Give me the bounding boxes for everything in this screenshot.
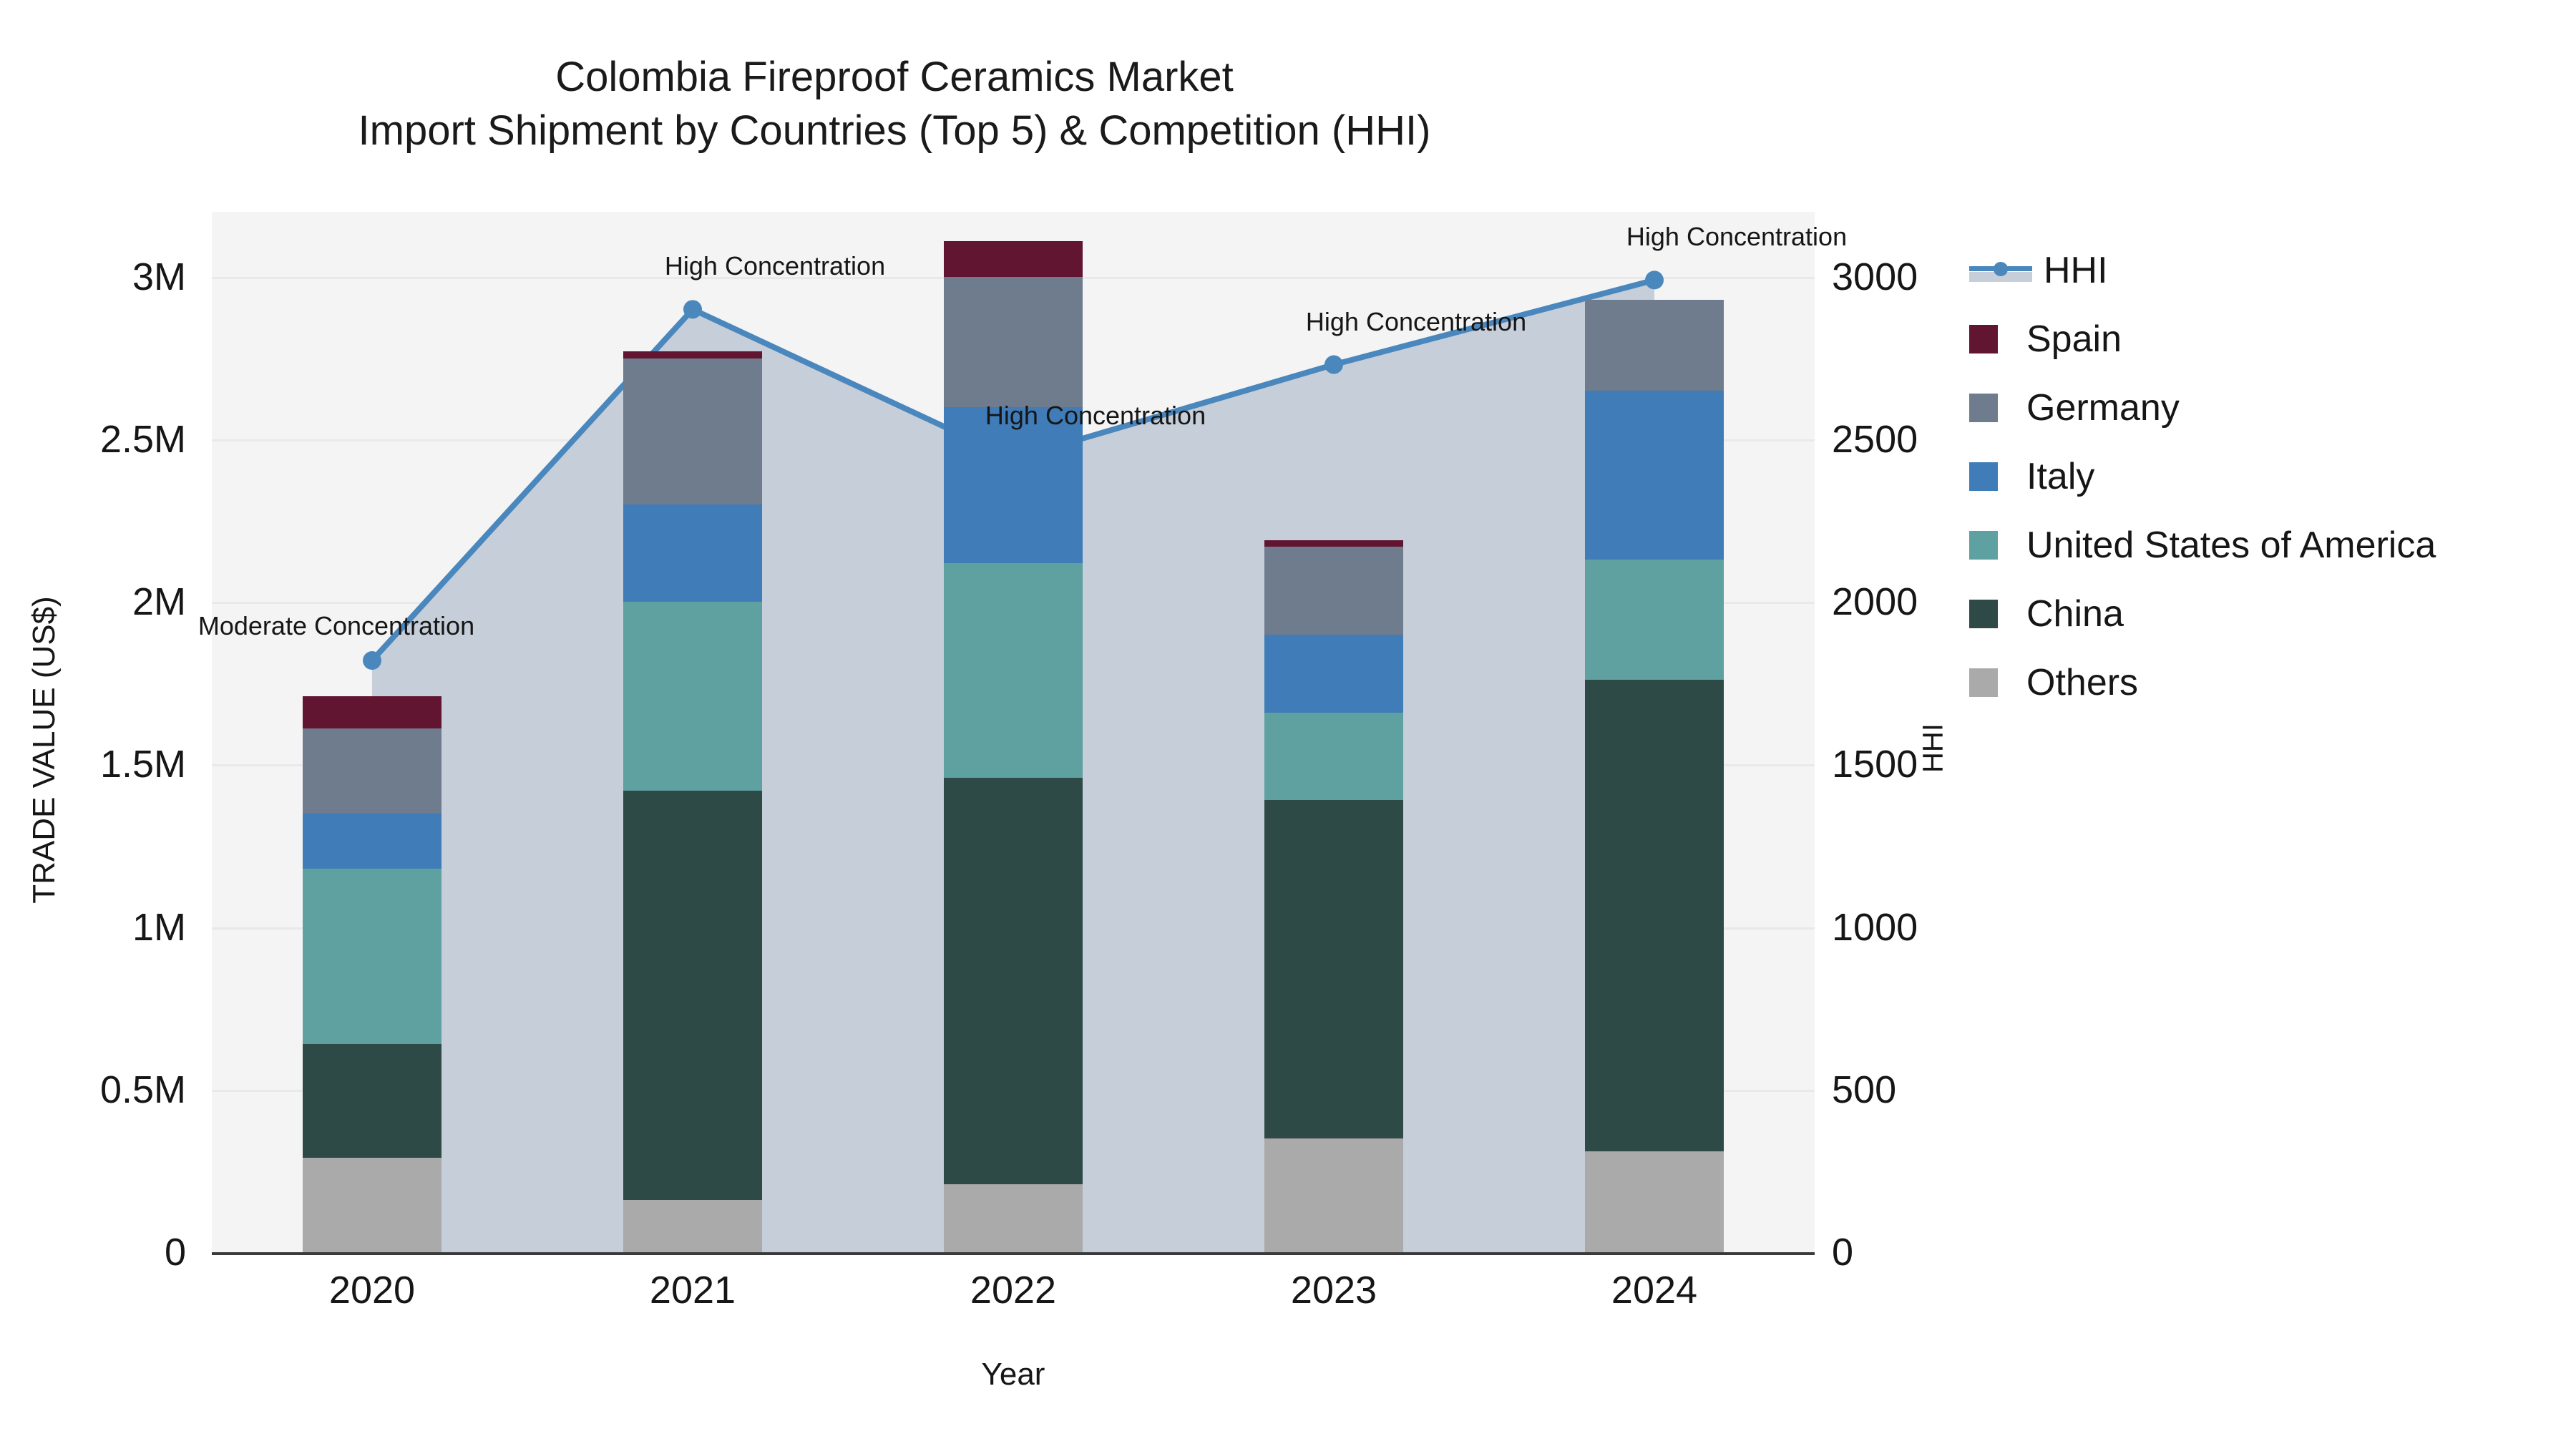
legend-swatch-icon [1969, 600, 1998, 628]
plot-area [212, 212, 1815, 1252]
bar-segment[interactable] [1264, 1138, 1403, 1252]
y-axis-left-tick-label: 0.5M [0, 1068, 186, 1112]
bar-segment[interactable] [1585, 1151, 1724, 1252]
bar-segment[interactable] [303, 728, 441, 813]
legend-item[interactable]: Others [1969, 648, 2556, 717]
title-line-1: Colombia Fireproof Ceramics Market [0, 50, 1789, 104]
bar-segment[interactable] [623, 358, 762, 504]
hhi-point-marker[interactable] [1645, 270, 1664, 289]
bar-segment[interactable] [944, 778, 1083, 1184]
bar-segment[interactable] [944, 563, 1083, 778]
legend-item-label: HHI [2044, 249, 2108, 292]
bar-segment[interactable] [623, 351, 762, 358]
hhi-annotation-label: High Concentration [1248, 309, 1584, 335]
bar-segment[interactable] [303, 1158, 441, 1252]
stacked-bar[interactable] [1585, 300, 1724, 1252]
bar-segment[interactable] [1264, 547, 1403, 635]
hhi-point-marker[interactable] [363, 651, 381, 670]
legend-swatch-icon [1969, 325, 1998, 353]
x-axis-tick-label: 2022 [906, 1268, 1121, 1312]
bar-segment[interactable] [1264, 713, 1403, 801]
bar-segment[interactable] [944, 277, 1083, 407]
y-axis-right-tick-label: 0 [1832, 1230, 2061, 1274]
y-axis-left-title: TRADE VALUE (US$) [26, 478, 62, 1022]
bar-segment[interactable] [303, 1044, 441, 1158]
legend-item-label: China [2026, 592, 2124, 635]
page-title: Colombia Fireproof Ceramics Market Impor… [0, 50, 1789, 158]
x-axis-tick-label: 2021 [585, 1268, 800, 1312]
legend-item[interactable]: Germany [1969, 374, 2556, 442]
bar-segment[interactable] [1264, 635, 1403, 713]
bar-segment[interactable] [944, 241, 1083, 277]
bar-segment[interactable] [944, 407, 1083, 563]
legend-item-label: Germany [2026, 386, 2180, 429]
stacked-bar[interactable] [303, 696, 441, 1252]
x-axis-title: Year [212, 1357, 1815, 1392]
bar-segment[interactable] [623, 602, 762, 791]
stacked-bar[interactable] [623, 351, 762, 1252]
y-axis-right-title: HHI [1918, 655, 1950, 841]
y-axis-left-tick-label: 0 [0, 1230, 186, 1274]
title-line-2: Import Shipment by Countries (Top 5) & C… [0, 104, 1789, 157]
legend-item-label: Others [2026, 661, 2138, 704]
bar-segment[interactable] [1585, 391, 1724, 560]
hhi-point-marker[interactable] [1324, 356, 1343, 374]
x-axis-tick-label: 2020 [265, 1268, 479, 1312]
bar-segment[interactable] [944, 1184, 1083, 1252]
legend-swatch-icon [1969, 668, 1998, 697]
x-axis-tick-label: 2023 [1226, 1268, 1441, 1312]
bar-segment[interactable] [1585, 300, 1724, 391]
bar-segment[interactable] [1585, 560, 1724, 680]
hhi-annotation-label: Moderate Concentration [172, 613, 501, 639]
legend-swatch-icon [1969, 394, 1998, 422]
bar-segment[interactable] [623, 504, 762, 602]
bar-segment[interactable] [1264, 540, 1403, 547]
stacked-bar[interactable] [1264, 540, 1403, 1252]
y-axis-left-tick-label: 2.5M [0, 417, 186, 462]
legend-item[interactable]: Italy [1969, 442, 2556, 511]
legend-item-label: Italy [2026, 455, 2094, 498]
y-axis-right-tick-label: 1000 [1832, 905, 2061, 950]
hhi-point-marker[interactable] [683, 300, 702, 318]
legend-item[interactable]: China [1969, 580, 2556, 648]
hhi-annotation-label: High Concentration [927, 403, 1264, 429]
hhi-annotation-label: High Concentration [1568, 224, 1905, 250]
legend-item[interactable]: United States of America [1969, 511, 2556, 580]
bar-segment[interactable] [1585, 680, 1724, 1151]
legend-item[interactable]: Spain [1969, 305, 2556, 374]
legend-item-label: Spain [2026, 318, 2122, 361]
hhi-annotation-label: High Concentration [607, 253, 943, 279]
legend-swatch-icon [1969, 462, 1998, 491]
legend-line-icon [1969, 256, 2032, 285]
legend: HHISpainGermanyItalyUnited States of Ame… [1969, 236, 2556, 717]
y-axis-right-tick-label: 500 [1832, 1068, 2061, 1112]
bar-segment[interactable] [303, 814, 441, 869]
x-axis-line [212, 1252, 1815, 1255]
stacked-bar[interactable] [944, 241, 1083, 1252]
x-axis-tick-label: 2024 [1547, 1268, 1762, 1312]
chart-canvas: Colombia Fireproof Ceramics Market Impor… [0, 0, 2576, 1449]
legend-item[interactable]: HHI [1969, 236, 2556, 305]
bar-segment[interactable] [303, 869, 441, 1044]
legend-item-label: United States of America [2026, 524, 2436, 567]
y-axis-left-tick-label: 3M [0, 255, 186, 299]
legend-swatch-icon [1969, 531, 1998, 560]
bar-segment[interactable] [623, 1200, 762, 1252]
bar-segment[interactable] [303, 696, 441, 728]
bar-segment[interactable] [623, 791, 762, 1201]
bar-segment[interactable] [1264, 800, 1403, 1138]
